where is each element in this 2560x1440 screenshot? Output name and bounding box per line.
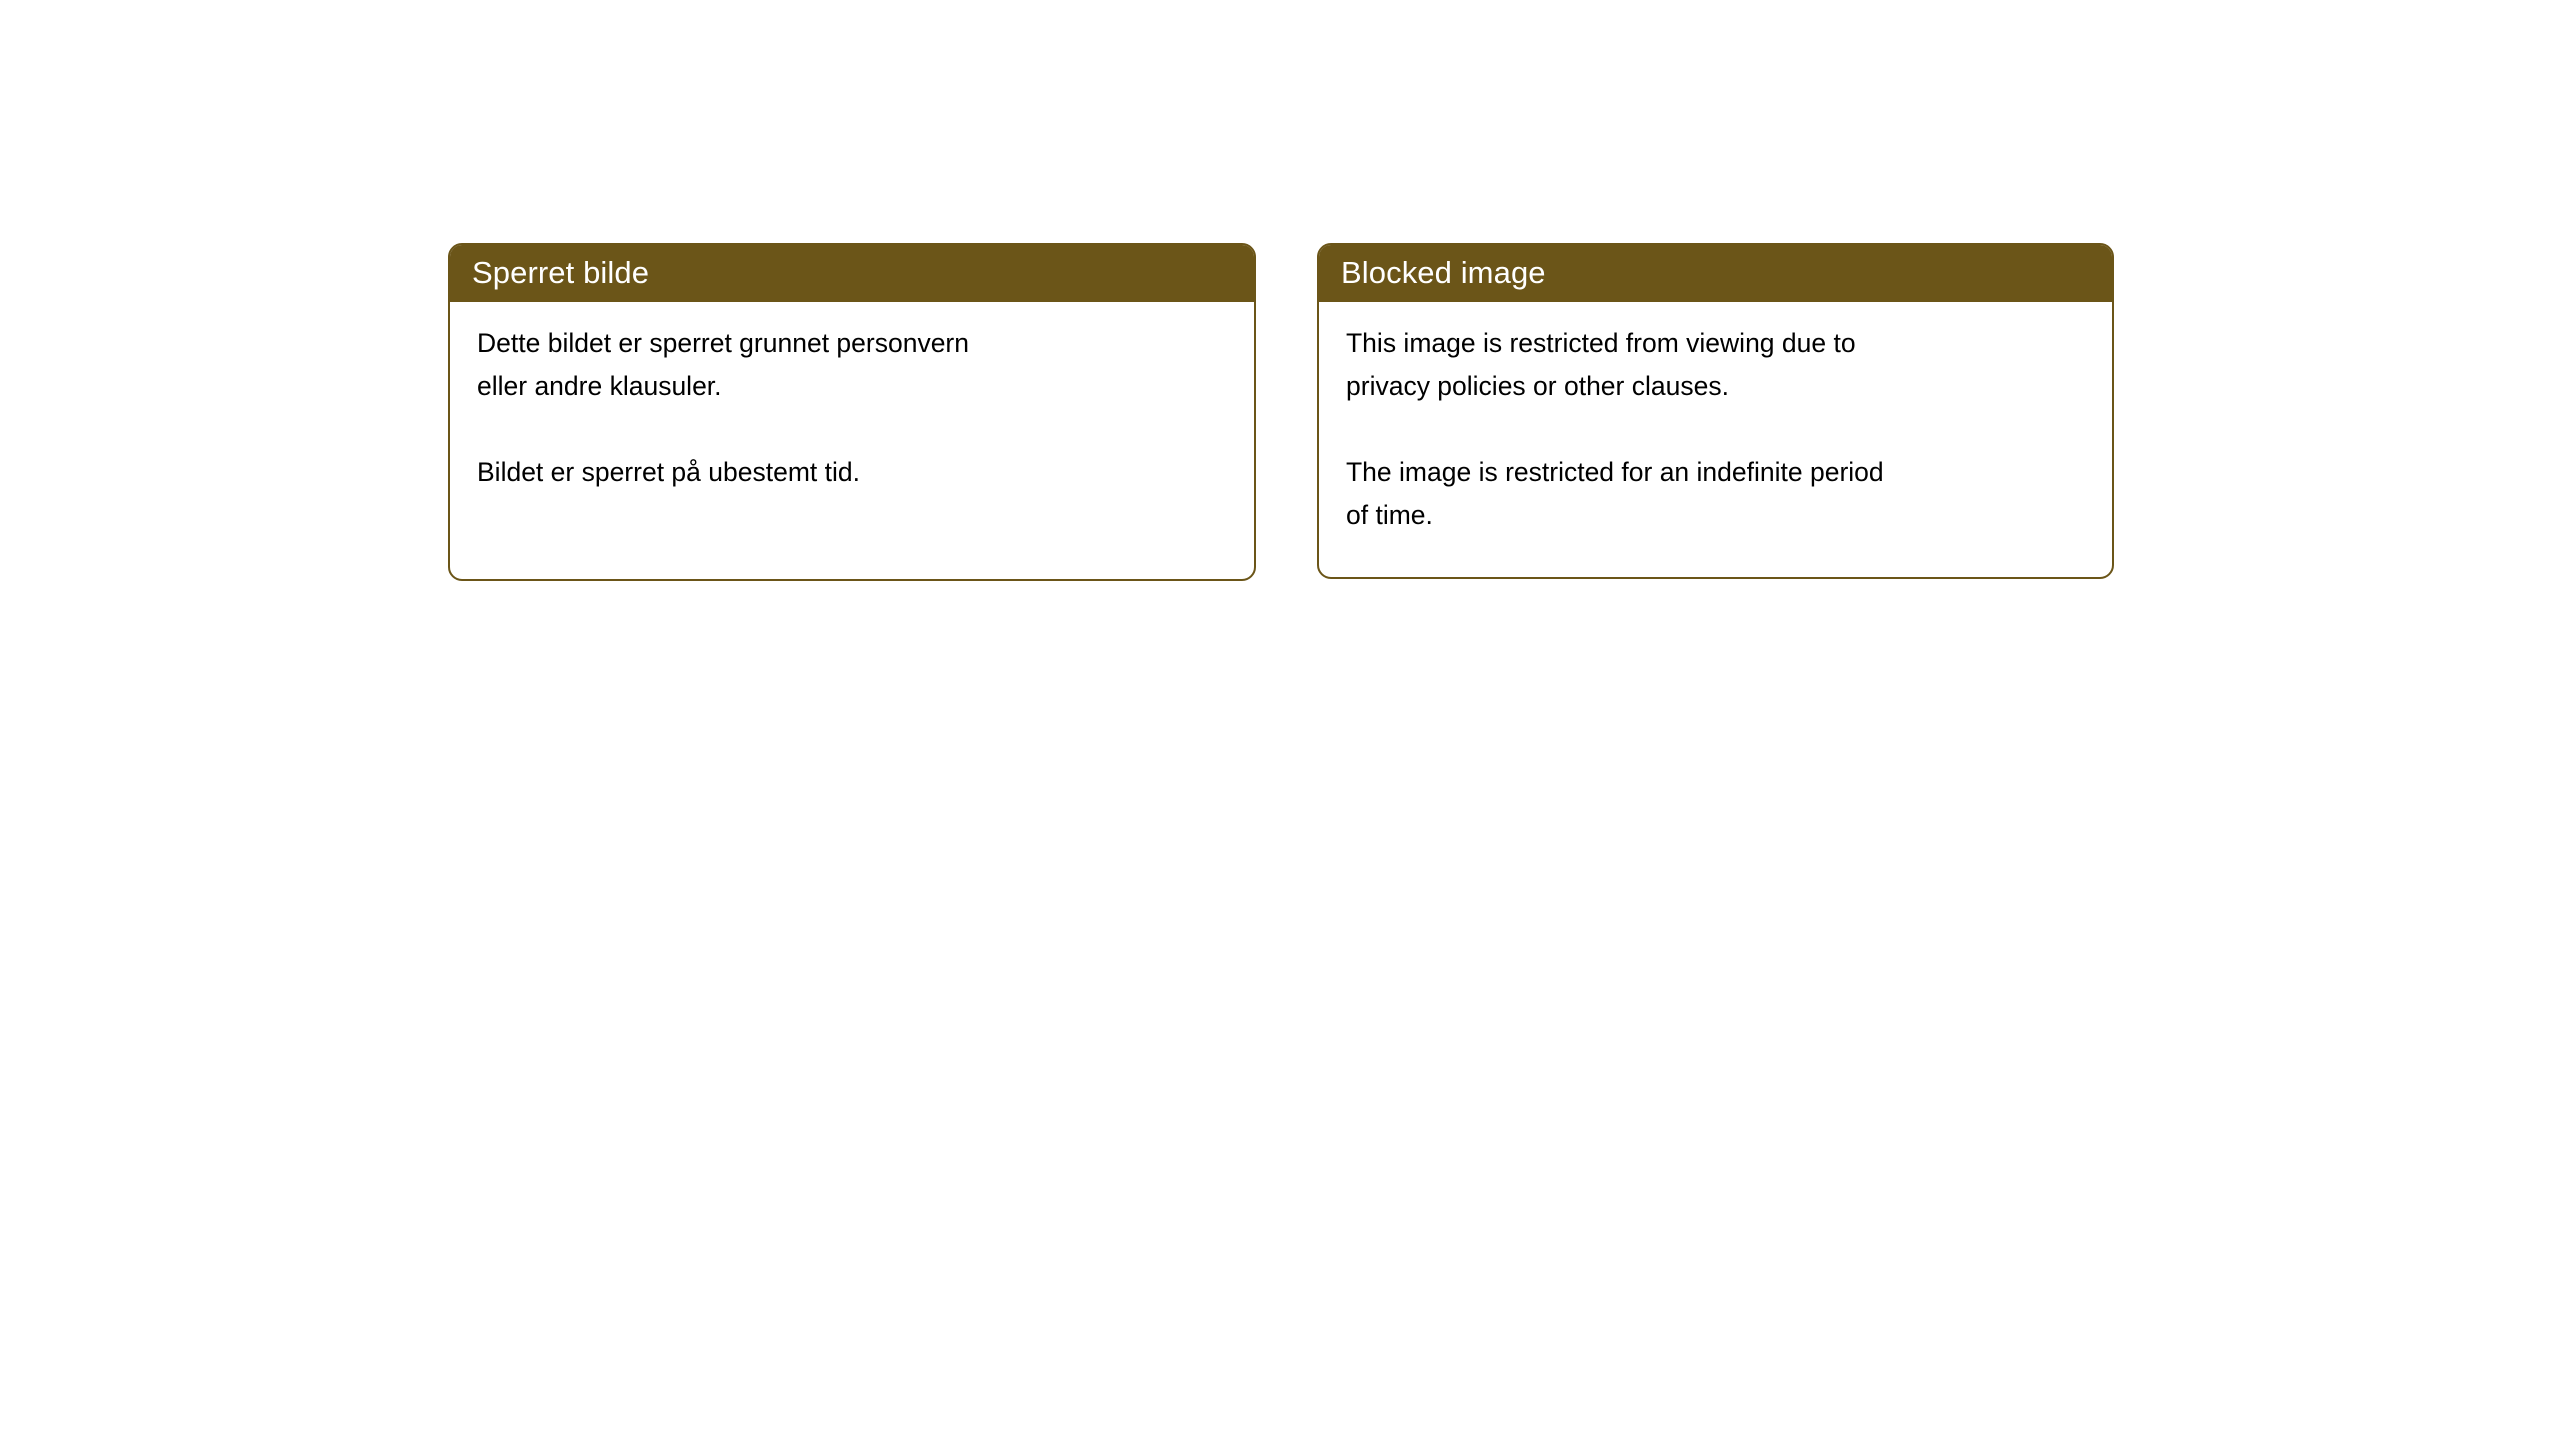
notice-title-norwegian: Sperret bilde xyxy=(472,257,649,288)
notice-paragraph-duration-english: The image is restricted for an indefinit… xyxy=(1346,451,2086,537)
notice-body-norwegian: Dette bildet er sperret grunnet personve… xyxy=(450,302,1254,494)
notice-paragraph-duration-norwegian: Bildet er sperret på ubestemt tid. xyxy=(477,451,1228,494)
page-canvas: Sperret bilde Dette bildet er sperret gr… xyxy=(0,0,2560,1440)
notice-paragraph-reason-norwegian: Dette bildet er sperret grunnet personve… xyxy=(477,322,1228,408)
notice-header-english: Blocked image xyxy=(1317,243,2114,302)
notice-header-norwegian: Sperret bilde xyxy=(448,243,1256,302)
notice-body-english: This image is restricted from viewing du… xyxy=(1319,302,2112,537)
notice-title-english: Blocked image xyxy=(1341,257,1546,288)
blocked-image-notice-norwegian: Sperret bilde Dette bildet er sperret gr… xyxy=(448,243,1256,581)
notice-paragraph-reason-english: This image is restricted from viewing du… xyxy=(1346,322,2086,408)
blocked-image-notice-english: Blocked image This image is restricted f… xyxy=(1317,243,2114,579)
